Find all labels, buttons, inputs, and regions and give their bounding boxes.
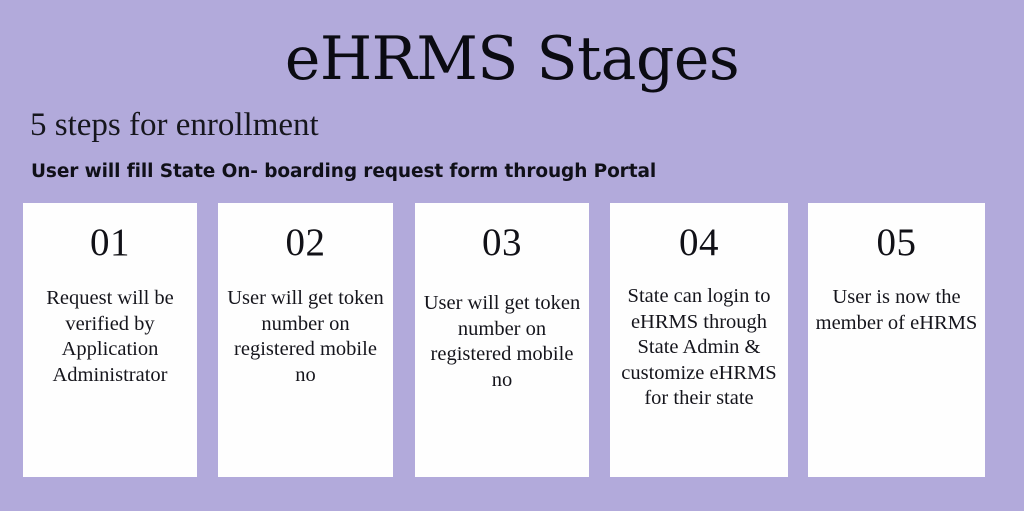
step-number: 03 bbox=[415, 220, 589, 266]
lead-instruction-text: User will fill State On- boarding reques… bbox=[31, 159, 656, 185]
step-description: Request will be verified by Application … bbox=[29, 286, 191, 388]
page-title: eHRMS Stages bbox=[0, 22, 1024, 96]
step-card-05: 05 User is now the member of eHRMS bbox=[808, 203, 985, 477]
step-description: User will get token number on registered… bbox=[224, 286, 387, 388]
step-description: User is now the member of eHRMS bbox=[814, 285, 979, 336]
steps-container: 01 Request will be verified by Applicati… bbox=[23, 203, 985, 477]
step-card-02: 02 User will get token number on registe… bbox=[218, 203, 393, 477]
step-card-04: 04 State can login to eHRMS through Stat… bbox=[610, 203, 788, 477]
step-number: 04 bbox=[610, 220, 788, 266]
step-card-03: 03 User will get token number on registe… bbox=[415, 203, 589, 477]
step-number: 02 bbox=[218, 220, 393, 266]
slide-canvas: eHRMS Stages 5 steps for enrollment User… bbox=[0, 0, 1024, 511]
step-number: 05 bbox=[808, 220, 985, 266]
step-number: 01 bbox=[23, 220, 197, 266]
page-subtitle: 5 steps for enrollment bbox=[30, 104, 319, 146]
step-description: State can login to eHRMS through State A… bbox=[616, 284, 782, 412]
step-description: User will get token number on registered… bbox=[421, 291, 583, 393]
step-card-01: 01 Request will be verified by Applicati… bbox=[23, 203, 197, 477]
